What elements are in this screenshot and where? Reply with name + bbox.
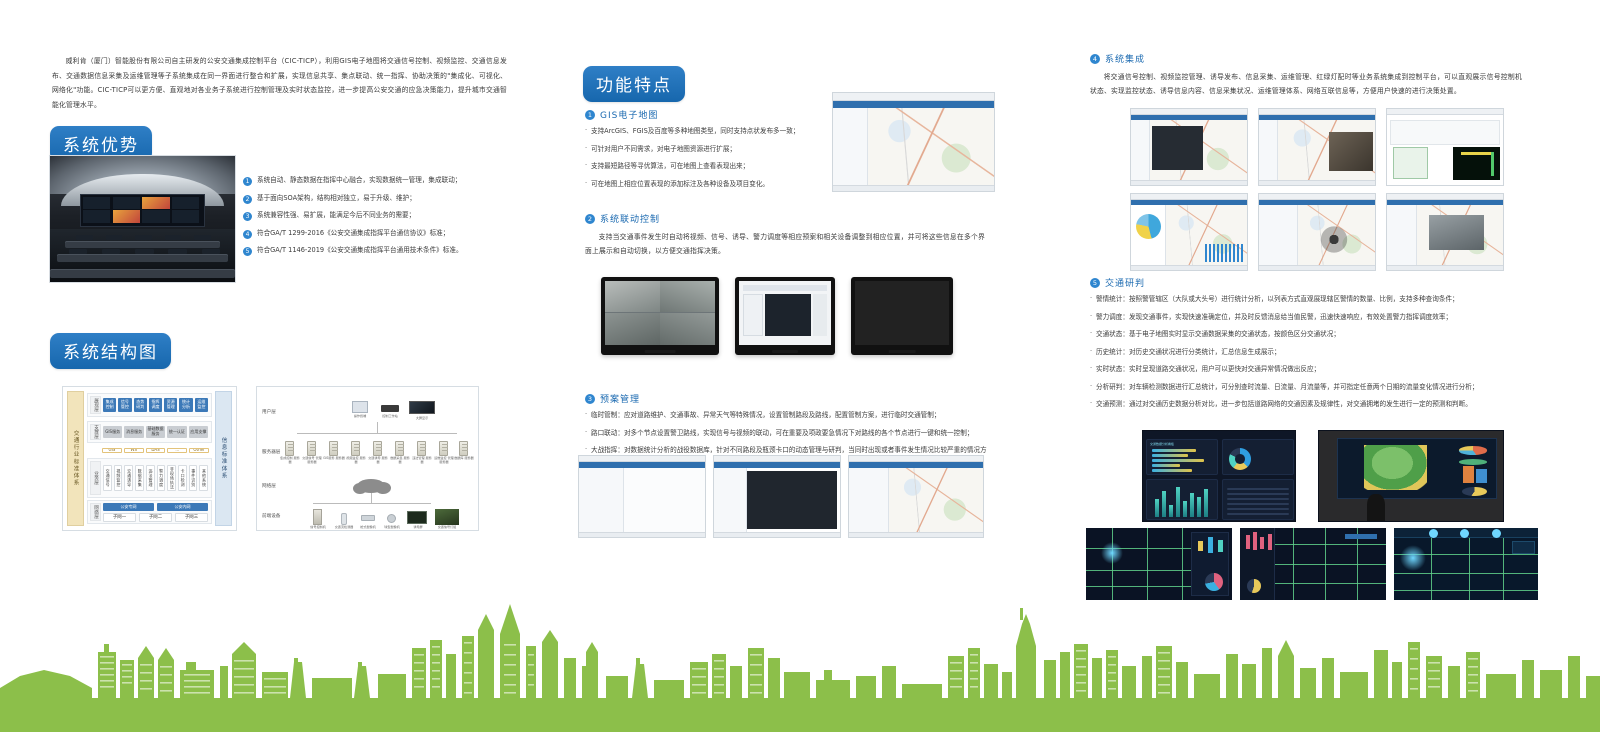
signal-controller-icon bbox=[313, 509, 322, 525]
intersection-linkage-screenshot bbox=[713, 455, 841, 538]
section-title: 预案管理 bbox=[600, 392, 640, 405]
feature-bullet: 分析研判：对车辆检测数据进行汇总统计，可分别查时流量、日流量、月流量等，并可指定… bbox=[1090, 383, 1530, 392]
arch-chip: 视频监控 bbox=[114, 465, 123, 492]
arch-chip: 警力调度 bbox=[157, 465, 166, 492]
features-badge: 功能特点 bbox=[583, 66, 685, 102]
cloud-label: 公安专网 bbox=[361, 494, 383, 498]
device-label: 信号控制机 bbox=[307, 526, 329, 530]
topology-row-label: 前端设备 bbox=[262, 513, 280, 519]
arch-chip: 运维监控 bbox=[195, 398, 208, 412]
server-icon bbox=[439, 441, 448, 456]
server-label: 集成控制 服务器 bbox=[279, 457, 301, 464]
gis-map-screenshot bbox=[832, 92, 995, 192]
feature-section-linkage: 2 系统联动控制 支持当交通事件发生时自动将视频、信号、诱导、警力调度等相应预案… bbox=[585, 212, 985, 258]
row-label: 业务层 bbox=[90, 461, 101, 495]
arch-chip: DAS bbox=[146, 448, 166, 453]
feature-bullet: 警力调度：发现交通事件，实现快速准确定位，并及时反馈消息给当值民警，迅速快速响应… bbox=[1090, 313, 1530, 322]
command-center-photo bbox=[1318, 430, 1504, 522]
signal-control-dashboard bbox=[1240, 528, 1386, 600]
plan-list-screenshot bbox=[578, 455, 706, 538]
arch-chip: 基础数据服务 bbox=[146, 426, 165, 438]
architecture-row-service-standards: GIS WS DAS ... Other bbox=[87, 445, 212, 456]
topology-row-label: 网络层 bbox=[262, 483, 276, 489]
advantage-text: 系统兼容性强、易扩展，能满足今后不同业务的需要； bbox=[257, 211, 415, 220]
server-icon bbox=[307, 441, 316, 456]
workstation-icon bbox=[352, 401, 368, 413]
structure-badge-label: 系统结构图 bbox=[50, 333, 171, 369]
advantage-text: 基于面向SOA架构，结构相对独立，易于升级、维护； bbox=[257, 194, 416, 203]
bullet-camera-icon bbox=[361, 515, 375, 521]
dome-camera-icon bbox=[387, 514, 396, 523]
section-header: 1 GIS电子地图 bbox=[585, 108, 823, 121]
server-label: 交通信号 管理服务器 bbox=[301, 457, 323, 464]
section-title: 系统集成 bbox=[1105, 52, 1145, 65]
arch-chip: 非现场执法 bbox=[167, 465, 176, 492]
videowall-icon bbox=[409, 401, 435, 414]
arch-subnet: 子网二 bbox=[139, 513, 172, 522]
device-label: 球型摄像机 bbox=[381, 526, 403, 530]
advantage-number: 3 bbox=[243, 212, 252, 221]
section-paragraph: 支持当交通事件发生时自动将视频、信号、诱导、警力调度等相应预案和相关设备调整到相… bbox=[585, 231, 985, 258]
arch-chip: 资源管理 bbox=[164, 398, 177, 412]
device-label: 交通流检测器 bbox=[333, 526, 355, 530]
monitor-screen bbox=[605, 281, 715, 345]
server-icon bbox=[351, 441, 360, 456]
arch-chip: 态势研判 bbox=[134, 398, 147, 412]
section-title: 系统联动控制 bbox=[600, 212, 660, 225]
arch-chip: 公安专网 bbox=[103, 503, 154, 511]
section-number: 4 bbox=[1090, 54, 1100, 64]
feature-bullet: 交通状态：基于电子地图实时显示交通数据采集的交通状态，按颜色区分交通状况； bbox=[1090, 330, 1530, 339]
row-label: 展现层 bbox=[90, 396, 101, 414]
monitor-screen bbox=[855, 281, 949, 345]
section-number: 2 bbox=[585, 214, 595, 224]
arch-chip: 集成控制 bbox=[103, 398, 116, 412]
section-number: 3 bbox=[585, 394, 595, 404]
section-number: 1 bbox=[585, 110, 595, 120]
advantage-text: 符合GA/T 1146-2019《公安交通集成指挥平台通用技术条件》标准。 bbox=[257, 246, 463, 255]
advantage-number: 5 bbox=[243, 247, 252, 256]
device-label: 诱导屏 bbox=[407, 526, 429, 530]
advantage-item: 1 系统自动、静态数据在指挥中心融合，实现数据统一管理，集成联动； bbox=[243, 176, 515, 186]
feature-bullet: 交通预测：通过对交通历史数据分析对比，进一步包括道路网络的交通因素及规律性，对交… bbox=[1090, 400, 1530, 409]
arch-chip: 应用支撑 bbox=[189, 426, 208, 438]
arch-chip: 数据采集 bbox=[135, 465, 144, 492]
server-label: 运维监控 管理服务器 bbox=[433, 457, 455, 464]
integration-screenshot-2 bbox=[1258, 108, 1376, 186]
advantage-number: 4 bbox=[243, 230, 252, 239]
monitor-screen bbox=[739, 281, 831, 345]
arch-chip: 卡口检测 bbox=[178, 465, 187, 492]
control-room-photo bbox=[49, 155, 236, 283]
row-label: 支撑层 bbox=[90, 424, 101, 440]
monitor-control-ui bbox=[735, 277, 835, 355]
terminal-label: 操作终端 bbox=[349, 415, 371, 419]
advantage-item: 5 符合GA/T 1146-2019《公安交通集成指挥平台通用技术条件》标准。 bbox=[243, 246, 515, 256]
feature-bullet: 支持最短路径等寻优算法，可在地图上查看表现出来； bbox=[585, 162, 823, 171]
arch-chip: 交通信号 bbox=[103, 465, 112, 492]
arch-chip: ... bbox=[167, 448, 187, 453]
server-icon bbox=[373, 441, 382, 456]
feature-bullet: 可针对用户不同需求，对电子地图资源进行扩展； bbox=[585, 145, 823, 154]
temporary-control-screenshot bbox=[848, 455, 984, 538]
traffic-monitoring-dashboard bbox=[1394, 528, 1538, 600]
server-label: 违法管理 服务器 bbox=[411, 457, 433, 464]
section-header: 3 预案管理 bbox=[585, 392, 987, 405]
structure-badge: 系统结构图 bbox=[50, 333, 171, 369]
advantage-item: 2 基于面向SOA架构，结构相对独立，易于升级、维护； bbox=[243, 194, 515, 204]
section-header: 2 系统联动控制 bbox=[585, 212, 985, 225]
server-label: 视频监控 服务器 bbox=[345, 457, 367, 464]
arch-chip: 公安内网 bbox=[157, 503, 208, 511]
section-number: 5 bbox=[1090, 278, 1100, 288]
big-screen bbox=[1337, 438, 1497, 499]
brochure-page: 威利肯（厦门）智能股份有限公司自主研发的公安交通集成控制平台（CIC-TICP）… bbox=[0, 0, 1600, 732]
server-icon bbox=[395, 441, 404, 456]
feature-bullet: 警情统计：按照警管辖区（大队或大头号）进行统计分析，以列表方式直观展现辖区警情的… bbox=[1090, 295, 1530, 304]
detector-icon bbox=[341, 513, 347, 525]
architecture-row-business: 业务层 交通信号 视频监控 交通诱导 数据采集 违法管理 警力调度 非现场执法 … bbox=[87, 458, 212, 498]
feature-bullet: 可在地图上相应位置表现的添加标注及各种设备及项目变化。 bbox=[585, 180, 823, 189]
integration-screenshot-4 bbox=[1130, 193, 1248, 271]
intro-paragraph: 威利肯（厦门）智能股份有限公司自主研发的公安交通集成控制平台（CIC-TICP）… bbox=[52, 54, 507, 112]
advantage-item: 4 符合GA/T 1299-2016《公安交通集成指挥平台通信协议》标准； bbox=[243, 229, 515, 239]
architecture-row-support: 支撑层 GIS服务 消息服务 基础数据服务 统一认证 应用支撑 bbox=[87, 421, 212, 443]
architecture-row-presentation: 展现层 集成控制 信号管控 态势研判 指挥调度 资源管理 统计分析 运维监控 bbox=[87, 393, 212, 417]
panel-title: 交通数据分析看板 bbox=[1150, 442, 1174, 446]
road-network-dashboard bbox=[1086, 528, 1232, 600]
traffic-light-icon bbox=[435, 509, 459, 525]
architecture-diagram: 交通行业标准体系 信息标准体系 展现层 集成控制 信号管控 态势研判 指挥调度 … bbox=[62, 386, 237, 531]
arch-chip: 交通诱导 bbox=[124, 465, 133, 492]
integration-screenshot-6 bbox=[1386, 193, 1504, 271]
arch-subnet: 子网三 bbox=[175, 513, 208, 522]
arch-chip: 指挥调度 bbox=[149, 398, 162, 412]
monitor-map bbox=[851, 277, 953, 355]
architecture-right-axis: 信息标准体系 bbox=[215, 391, 232, 526]
section-title: 交通研判 bbox=[1105, 276, 1145, 289]
arch-chip: Other bbox=[189, 448, 209, 453]
arch-chip: 信号管控 bbox=[118, 398, 131, 412]
advantage-number: 2 bbox=[243, 195, 252, 204]
console-icon bbox=[381, 405, 399, 412]
arch-chip: 消息服务 bbox=[124, 426, 143, 438]
server-label: 数据采集 服务器 bbox=[389, 457, 411, 464]
feature-section-gis: 1 GIS电子地图 支持ArcGIS、FGIS及百度等多种地图类型，同时支持点状… bbox=[585, 108, 823, 197]
arch-chip: 事件识别 bbox=[189, 465, 198, 492]
terminal-label: 控制工作站 bbox=[379, 415, 401, 419]
row-label: 网络层 bbox=[90, 503, 101, 521]
features-badge-label: 功能特点 bbox=[583, 66, 685, 102]
section-paragraph: 将交通信号控制、视频监控管理、诱导发布、信息采集、运维管理、红绿灯配时等业务系统… bbox=[1090, 71, 1522, 98]
terminal-label: 大屏显示 bbox=[411, 417, 433, 421]
feature-section-integration: 4 系统集成 将交通信号控制、视频监控管理、诱导发布、信息采集、运维管理、红绿灯… bbox=[1090, 52, 1522, 98]
arch-subnet: 子网一 bbox=[103, 513, 136, 522]
integration-screenshot-1 bbox=[1130, 108, 1248, 186]
server-icon bbox=[417, 441, 426, 456]
server-label: 交通诱导 服务器 bbox=[367, 457, 389, 464]
server-label: 数据库 服务器 bbox=[453, 457, 475, 461]
arch-chip: 统一认证 bbox=[167, 426, 186, 438]
device-label: 交通信号灯组 bbox=[436, 526, 458, 530]
integration-screenshot-5 bbox=[1258, 193, 1376, 271]
feature-section-traffic-analysis: 5 交通研判 警情统计：按照警管辖区（大队或大头号）进行统计分析，以列表方式直观… bbox=[1090, 276, 1530, 418]
section-title: GIS电子地图 bbox=[600, 108, 658, 121]
arch-chip: 违法管理 bbox=[146, 465, 155, 492]
architecture-left-axis: 交通行业标准体系 bbox=[67, 391, 84, 526]
person-silhouette bbox=[1367, 494, 1385, 521]
arch-chip: GIS bbox=[102, 448, 122, 453]
advantages-list: 1 系统自动、静态数据在指挥中心融合，实现数据统一管理，集成联动； 2 基于面向… bbox=[243, 176, 515, 264]
server-icon bbox=[285, 441, 294, 456]
arch-chip: WS bbox=[124, 448, 144, 453]
architecture-row-network: 网络层 公安专网 公安内网 子网一 子网二 子网三 bbox=[87, 500, 212, 524]
section-header: 4 系统集成 bbox=[1090, 52, 1522, 65]
arch-chip: GIS服务 bbox=[103, 426, 122, 438]
advantage-text: 系统自动、静态数据在指挥中心融合，实现数据统一管理，集成联动； bbox=[257, 176, 461, 185]
server-label: GIS服务 服务器 bbox=[323, 457, 345, 461]
monitor-cctv bbox=[601, 277, 719, 355]
integration-screenshot-3 bbox=[1386, 108, 1504, 186]
section-header: 5 交通研判 bbox=[1090, 276, 1530, 289]
topology-row-label: 用户层 bbox=[262, 409, 276, 415]
analytics-dashboard: 交通数据分析看板 bbox=[1142, 430, 1296, 522]
arch-chip: 其他系统 bbox=[199, 465, 208, 492]
network-topology-diagram: 用户层 服务器层 网络层 前端设备 操作终端 控制工作站 大屏显示 集成控制 服… bbox=[256, 386, 479, 531]
server-icon bbox=[329, 441, 338, 456]
feature-bullet: 支持ArcGIS、FGIS及百度等多种地图类型，同时支持点状发布多一致； bbox=[585, 127, 823, 136]
device-label: 枪式摄像机 bbox=[357, 526, 379, 530]
topology-row-label: 服务器层 bbox=[262, 449, 280, 455]
guidance-screen-icon bbox=[407, 511, 427, 524]
feature-bullet: 历史统计：对历史交通状况进行分类统计，汇总信息生成展示； bbox=[1090, 348, 1530, 357]
left-column: 威利肯（厦门）智能股份有限公司自主研发的公安交通集成控制平台（CIC-TICP）… bbox=[52, 54, 522, 112]
feature-bullet: 路口联动：对多个节点设置警卫路线，实现信号与视频的联动，可在重要及项政要急情况下… bbox=[585, 429, 987, 438]
feature-bullet: 临时管制：应对道路维护、交通事故、异常天气等特殊情况，设置管制路段及路线，配置管… bbox=[585, 411, 987, 420]
advantage-text: 符合GA/T 1299-2016《公安交通集成指挥平台通信协议》标准； bbox=[257, 229, 449, 238]
city-skyline-graphic bbox=[0, 600, 1600, 732]
feature-bullet: 实时状态：实时呈现道路交通状况，用户可以更快对交通异常情况做出反应； bbox=[1090, 365, 1530, 374]
arch-chip: 统计分析 bbox=[179, 398, 192, 412]
advantage-item: 3 系统兼容性强、易扩展，能满足今后不同业务的需要； bbox=[243, 211, 515, 221]
server-icon bbox=[459, 441, 468, 456]
advantage-number: 1 bbox=[243, 177, 252, 186]
